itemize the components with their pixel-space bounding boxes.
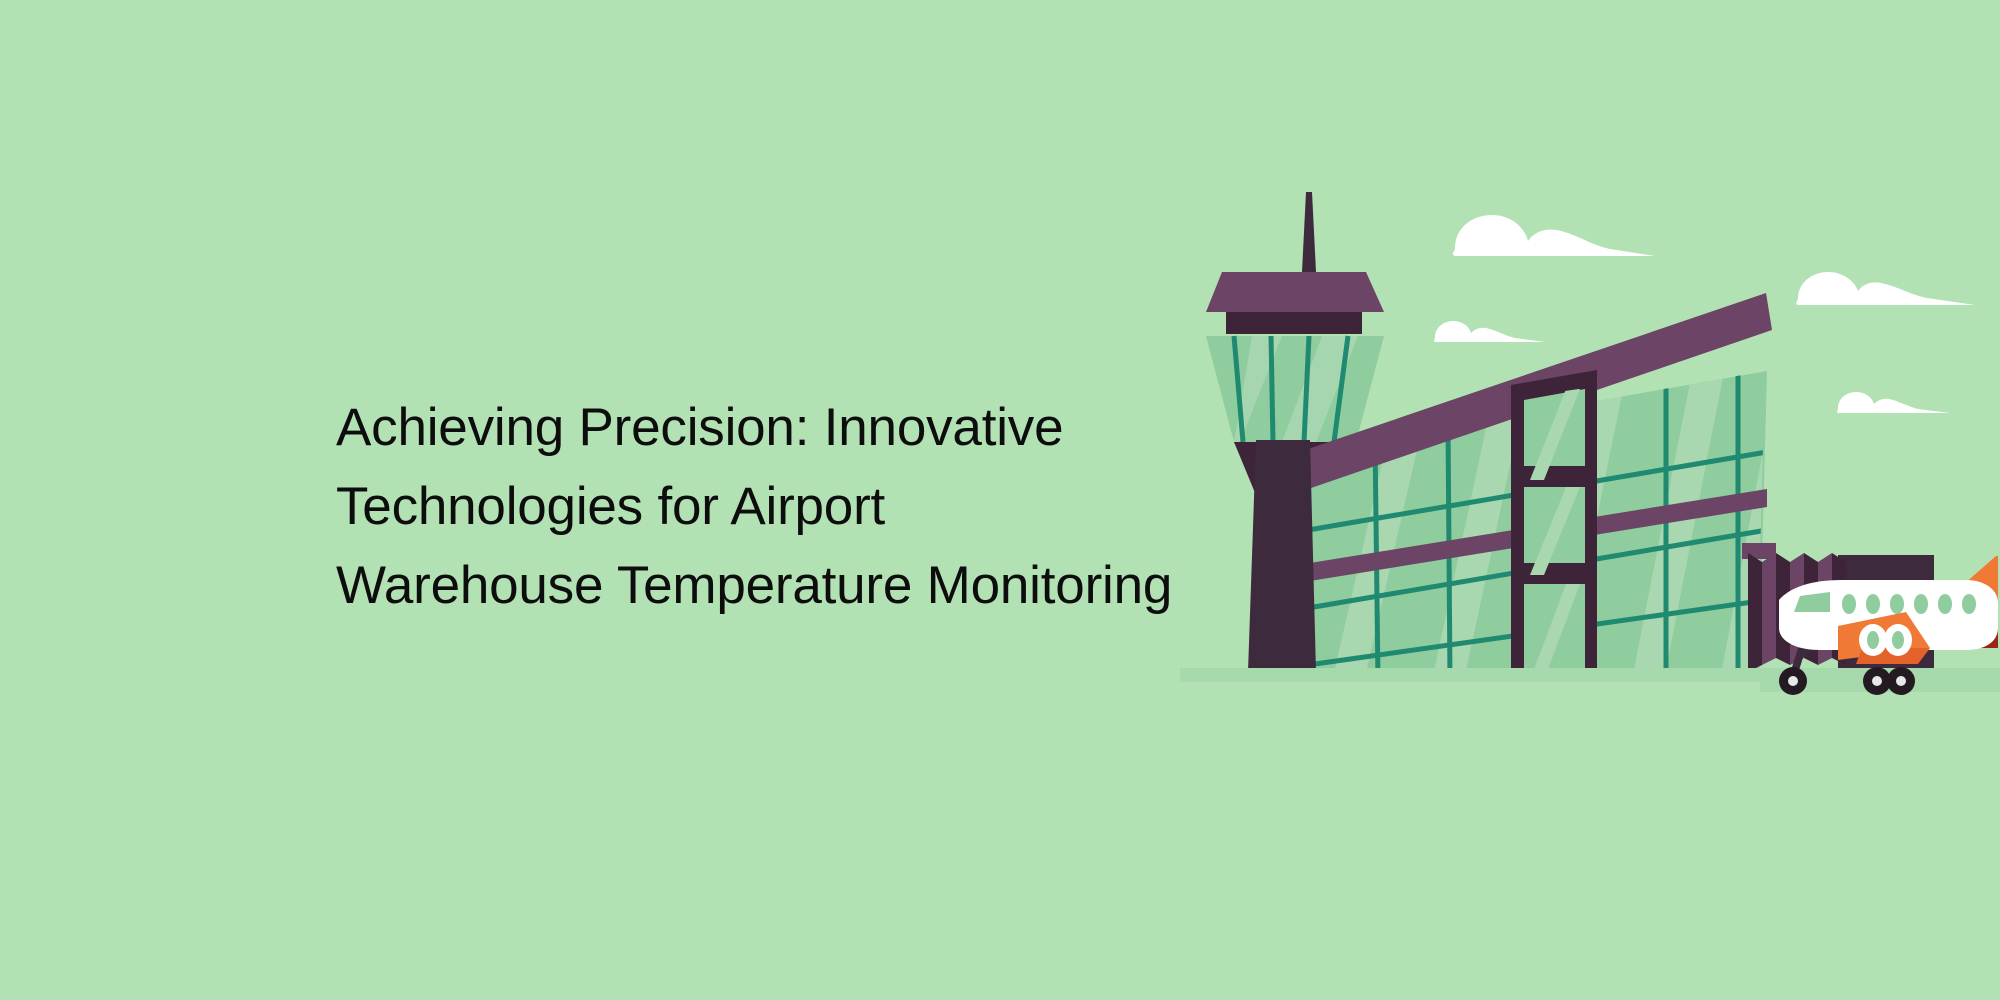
title-line-3: Warehouse Temperature Monitoring bbox=[336, 546, 1266, 625]
banner-root: Achieving Precision: Innovative Technolo… bbox=[0, 0, 2000, 1000]
terminal-shaft bbox=[1511, 370, 1597, 680]
plane-engine-intake-2 bbox=[1892, 631, 1904, 649]
title-line-1: Achieving Precision: Innovative bbox=[336, 388, 1266, 467]
tower-roof bbox=[1206, 272, 1384, 312]
page-title: Achieving Precision: Innovative Technolo… bbox=[336, 388, 1266, 625]
title-line-2: Technologies for Airport bbox=[336, 467, 1266, 546]
plane-engine-intake-1 bbox=[1867, 631, 1879, 649]
tower-roof-band bbox=[1226, 312, 1362, 334]
